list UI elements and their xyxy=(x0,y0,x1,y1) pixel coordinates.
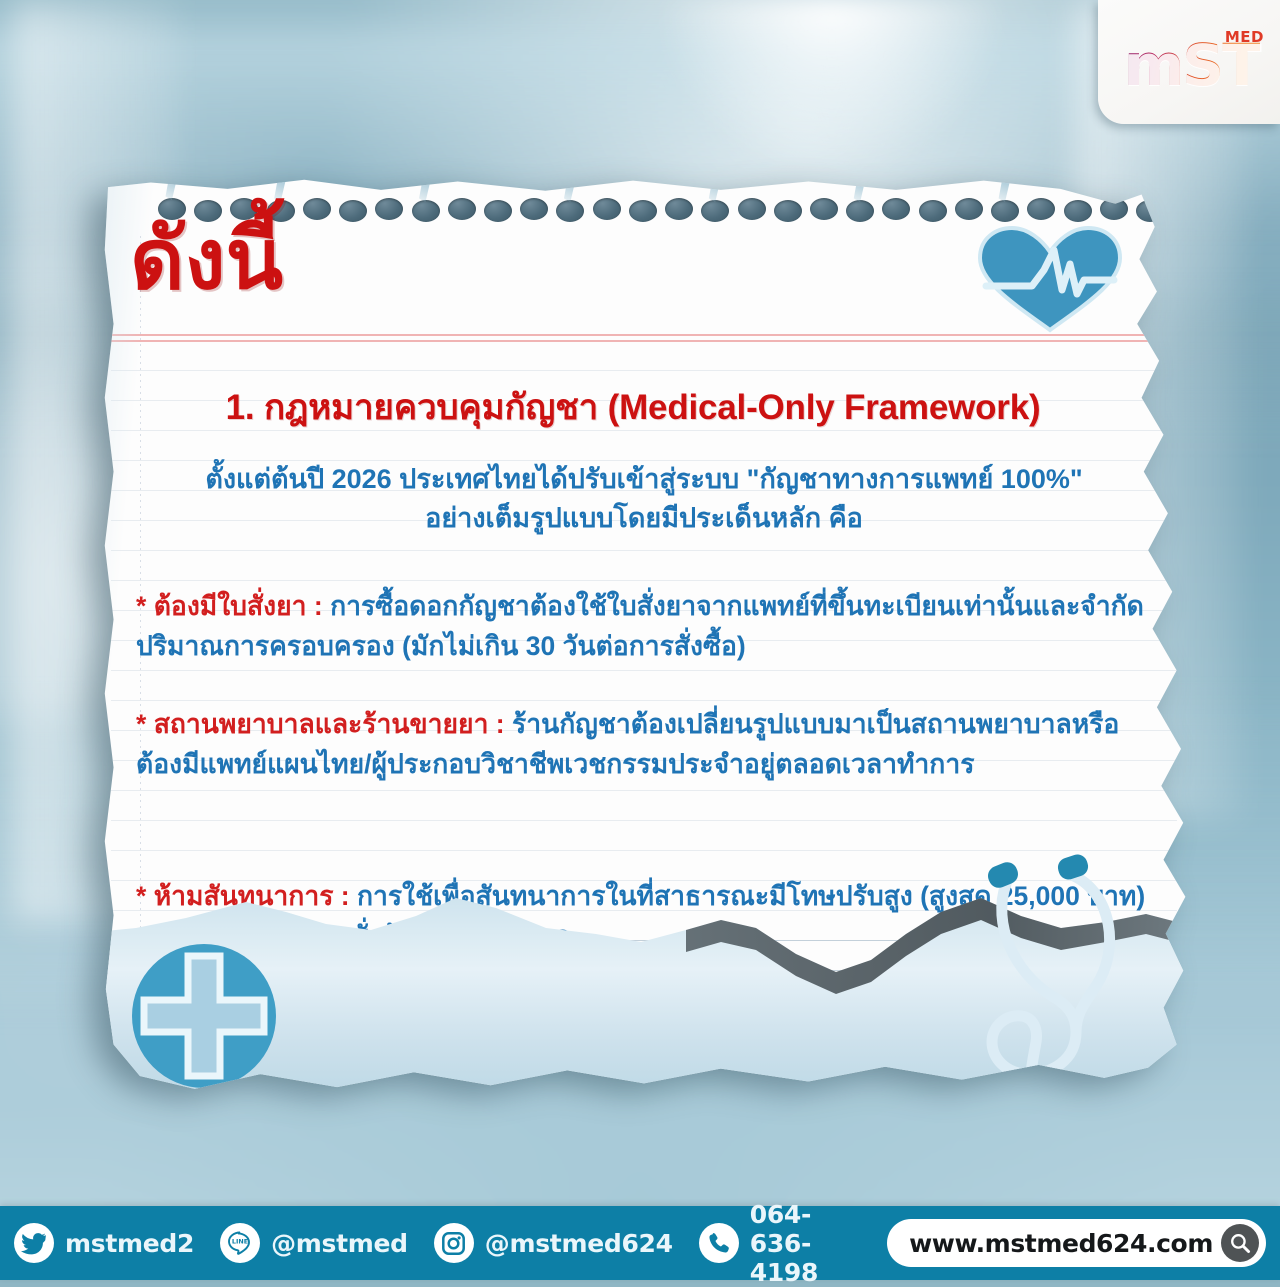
svg-text:LINE: LINE xyxy=(232,1238,248,1246)
punch-hole xyxy=(375,198,403,220)
punch-hole xyxy=(701,200,729,222)
punch-hole xyxy=(484,200,512,222)
punch-hole xyxy=(556,200,584,222)
punch-hole-tear xyxy=(1104,176,1120,200)
ruled-line xyxy=(111,700,1176,701)
footer-phone-number: 064-636-4198 xyxy=(750,1200,861,1287)
bullet-star: * xyxy=(136,709,146,739)
punch-hole xyxy=(1100,198,1128,220)
line-icon: LINE xyxy=(220,1223,260,1263)
ruled-line xyxy=(111,370,1176,371)
medical-cross-icon xyxy=(128,940,280,1092)
ruled-line xyxy=(111,820,1176,821)
ruled-line-red xyxy=(111,334,1176,336)
stethoscope-icon xyxy=(964,846,1164,1100)
section-heading: 1. กฎหมายควบคุมกัญชา (Medical-Only Frame… xyxy=(96,380,1170,435)
brand-logo: MED mST xyxy=(1120,22,1268,106)
phone-icon xyxy=(699,1223,739,1263)
footer-contact-bar: mstmed2 LINE @mstmed @mstmed624 064-636-… xyxy=(0,1206,1280,1280)
bullet-item: * ต้องมีใบสั่งยา : การซื้อดอกกัญชาต้องใช… xyxy=(136,586,1158,667)
intro-paragraph: ตั้งแต่ต้นปี 2026 ประเทศไทยได้ปรับเข้าสู… xyxy=(140,460,1148,538)
punch-hole xyxy=(774,200,802,222)
punch-hole xyxy=(738,198,766,220)
brand-logo-wordmark: mST xyxy=(1124,36,1260,94)
punch-hole xyxy=(846,200,874,222)
punch-hole xyxy=(412,200,440,222)
kicker-title: ดังนี้ xyxy=(130,220,283,300)
punch-hole xyxy=(629,200,657,222)
punch-hole xyxy=(339,200,367,222)
twitter-icon xyxy=(14,1223,54,1263)
ruled-line xyxy=(111,580,1176,581)
punch-hole xyxy=(919,200,947,222)
punch-hole xyxy=(1064,200,1092,222)
notepad-sheet: ดังนี้ 1. กฎหมายควบคุมกัญชา (Medical-Onl… xyxy=(96,176,1192,1100)
bullet-item: * สถานพยาบาลและร้านขายยา : ร้านกัญชาต้อง… xyxy=(136,704,1158,785)
punch-hole xyxy=(955,198,983,220)
punch-hole xyxy=(303,198,331,220)
footer-phone[interactable]: 064-636-4198 xyxy=(699,1200,861,1287)
bullet-label: สถานพยาบาลและร้านขายยา : xyxy=(154,709,505,739)
footer-website-pill[interactable]: www.mstmed624.com xyxy=(887,1219,1266,1267)
intro-line-1: ตั้งแต่ต้นปี 2026 ประเทศไทยได้ปรับเข้าสู… xyxy=(140,460,1148,499)
punch-hole xyxy=(810,198,838,220)
footer-website-url: www.mstmed624.com xyxy=(909,1229,1213,1258)
punch-hole xyxy=(1027,198,1055,220)
notepad-sheet-wrapper: ดังนี้ 1. กฎหมายควบคุมกัญชา (Medical-Onl… xyxy=(96,176,1192,1100)
punch-hole xyxy=(448,198,476,220)
punch-hole xyxy=(991,200,1019,222)
ruled-line xyxy=(111,550,1176,551)
bullet-label: ต้องมีใบสั่งยา : xyxy=(154,591,323,621)
footer-line[interactable]: LINE @mstmed xyxy=(220,1223,408,1263)
bullet-star: * xyxy=(136,591,146,621)
footer-twitter-handle: mstmed2 xyxy=(65,1229,194,1258)
heart-pulse-icon xyxy=(974,224,1126,334)
intro-line-2: อย่างเต็มรูปแบบโดยมีประเด็นหลัก คือ xyxy=(140,499,1148,538)
footer-instagram[interactable]: @mstmed624 xyxy=(434,1223,673,1263)
punch-hole xyxy=(665,198,693,220)
ruled-line-red xyxy=(111,340,1176,342)
punch-hole xyxy=(1136,200,1164,222)
ruled-line xyxy=(111,790,1176,791)
brand-logo-card: MED mST xyxy=(1098,0,1280,124)
background-ceiling-light xyxy=(666,0,999,166)
punch-hole xyxy=(593,198,621,220)
punch-hole xyxy=(520,198,548,220)
search-icon[interactable] xyxy=(1221,1224,1259,1262)
footer-line-handle: @mstmed xyxy=(271,1229,408,1258)
instagram-icon xyxy=(434,1223,474,1263)
punch-hole xyxy=(882,198,910,220)
footer-twitter[interactable]: mstmed2 xyxy=(14,1223,194,1263)
footer-instagram-handle: @mstmed624 xyxy=(485,1229,673,1258)
ruled-line xyxy=(111,670,1176,671)
